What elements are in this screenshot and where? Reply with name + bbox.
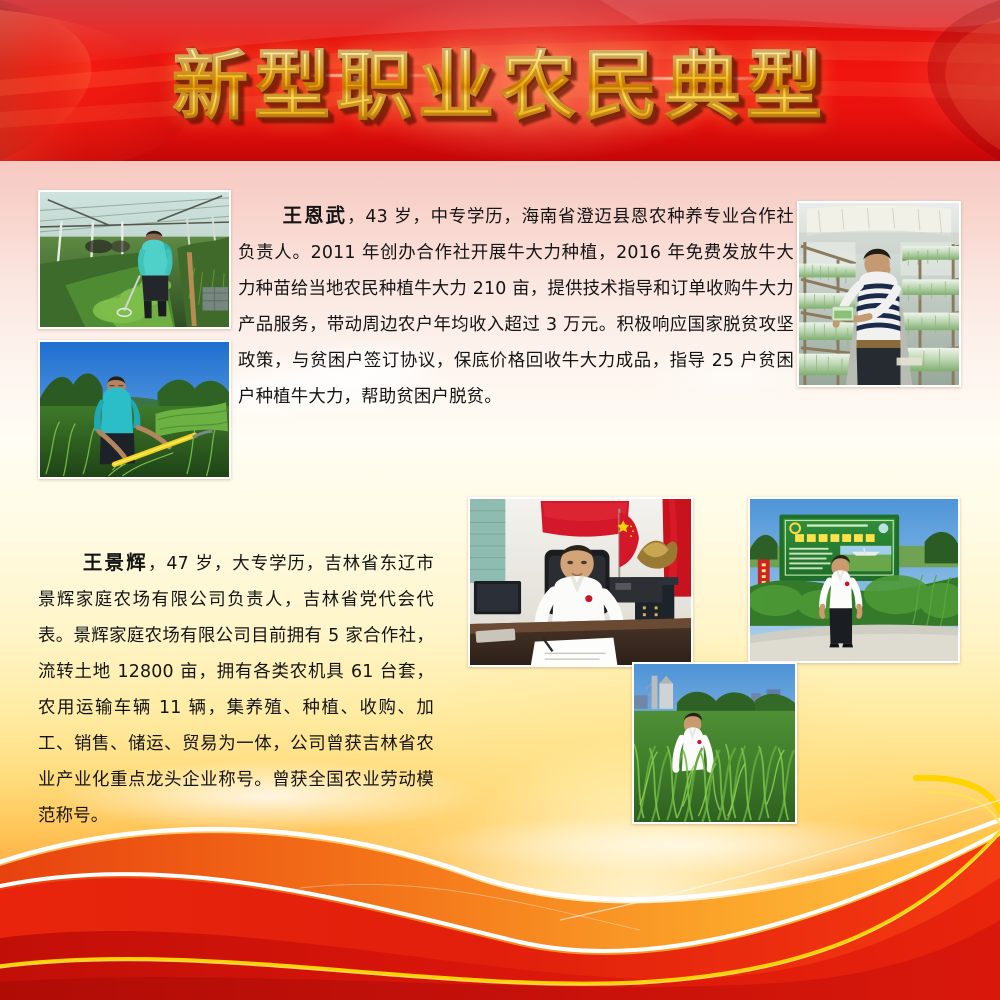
profile-name-wang-en-wu: 王恩武: [282, 204, 347, 227]
cloud-band: [420, 816, 940, 874]
cloud-band: [40, 936, 540, 976]
profile-paragraph-wang-jing-hui: 王景辉，47 岁，大专学历，吉林省东辽市景辉家庭农场有限公司负责人，吉林省党代会…: [38, 545, 434, 834]
cloud-band: [520, 896, 950, 942]
page-title: 新型职业农民典型: [172, 48, 828, 124]
poster-header: 新型职业农民典型: [0, 0, 1000, 161]
profile-name-wang-jing-hui: 王景辉: [82, 551, 148, 574]
photo-signboard-standing: [748, 497, 960, 663]
horizon-haze: [0, 841, 1000, 1000]
profile-paragraph-wang-en-wu: 王恩武，43 岁，中专学历，海南省澄迈县恩农种养专业合作社负责人。2011 年创…: [238, 198, 794, 415]
poster-canvas: 新型职业农民典型: [0, 0, 1000, 1000]
profile-body-wang-en-wu: ，43 岁，中专学历，海南省澄迈县恩农种养专业合作社负责人。2011 年创办合作…: [238, 207, 794, 407]
cloud-band: [120, 866, 500, 914]
photo-corn-field: [632, 662, 797, 824]
photo-office-desk: [468, 497, 693, 667]
photo-tissue-culture-lab: [797, 201, 961, 387]
photo-greenhouse-spraying: [38, 190, 231, 329]
profile-body-wang-jing-hui: ，47 岁，大专学历，吉林省东辽市景辉家庭农场有限公司负责人，吉林省党代会代表。…: [38, 554, 434, 826]
photo-field-inspection: [38, 340, 231, 479]
